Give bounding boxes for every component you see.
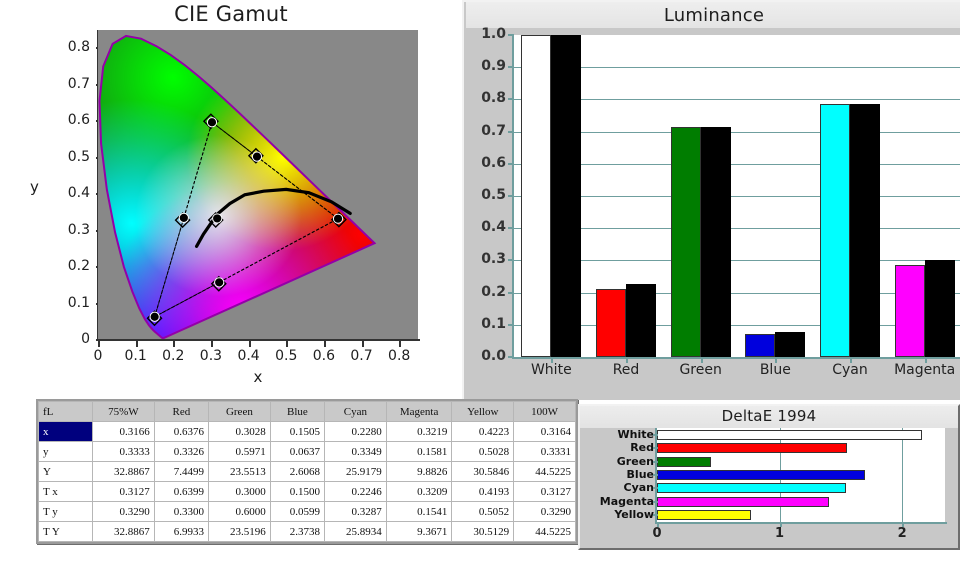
table-column-header[interactable]: 75%W <box>93 402 155 422</box>
deltae-category-label: Cyan <box>580 481 654 494</box>
table-cell[interactable]: 0.1581 <box>386 442 452 462</box>
table-row-header[interactable]: T x <box>39 482 93 502</box>
deltae-bar[interactable] <box>657 457 711 467</box>
cie-y-tick-label: 0.8 <box>56 39 90 55</box>
deltae-bar[interactable] <box>657 497 829 507</box>
table-cell[interactable]: 30.5129 <box>452 522 514 542</box>
table-row-header[interactable]: y <box>39 442 93 462</box>
deltae-x-tick-label: 1 <box>760 526 800 541</box>
luminance-bar-group[interactable] <box>663 35 738 357</box>
luminance-y-tick-label: 0.8 <box>464 90 506 106</box>
deltae-category-label: Magenta <box>580 495 654 508</box>
cie-x-tick-label: 0.8 <box>379 348 419 364</box>
luminance-bar-measured[interactable] <box>895 265 925 357</box>
luminance-y-tick-label: 0.3 <box>464 251 506 267</box>
table-cell[interactable]: 0.1505 <box>270 422 324 442</box>
cie-x-tick <box>211 340 213 347</box>
table-body: x0.31660.63760.30280.15050.22800.32190.4… <box>39 422 576 542</box>
table-cell[interactable]: 0.5028 <box>452 442 514 462</box>
cie-x-tick <box>286 340 288 347</box>
table-cell[interactable]: 0.3290 <box>514 502 576 522</box>
table-cell[interactable]: 0.6000 <box>209 502 271 522</box>
luminance-y-tick-label: 0.5 <box>464 187 506 203</box>
cie-x-tick <box>136 340 138 347</box>
deltae-category-tick <box>653 487 658 489</box>
cie-y-tick-label: 0.3 <box>56 222 90 238</box>
table-cell[interactable]: 9.3671 <box>386 522 452 542</box>
table-cell[interactable]: 0.5971 <box>209 442 271 462</box>
luminance-y-tick <box>508 98 514 100</box>
luminance-y-tick-label: 0.9 <box>464 58 506 74</box>
table-column-header[interactable]: Magenta <box>386 402 452 422</box>
measurement-table: fL75%WRedGreenBlueCyanMagentaYellow100W … <box>38 401 576 542</box>
luminance-x-axis-line <box>512 357 960 359</box>
luminance-bar-group[interactable] <box>813 35 888 357</box>
table-cell[interactable]: 0.0637 <box>270 442 324 462</box>
table-cell[interactable]: 0.3127 <box>93 482 155 502</box>
luminance-bar-measured[interactable] <box>745 334 775 357</box>
table-cell[interactable]: 2.6068 <box>270 462 324 482</box>
table-column-header[interactable]: 100W <box>514 402 576 422</box>
table-header-row: fL75%WRedGreenBlueCyanMagentaYellow100W <box>39 402 576 422</box>
luminance-bar-measured[interactable] <box>671 127 701 357</box>
table-cell[interactable]: 0.4223 <box>452 422 514 442</box>
deltae-x-tick-label: 2 <box>882 526 922 541</box>
luminance-y-tick <box>508 195 514 197</box>
luminance-bar-target[interactable] <box>626 284 656 357</box>
cie-y-tick-label: 0.6 <box>56 112 90 128</box>
table-cell[interactable]: 0.6399 <box>154 482 208 502</box>
deltae-category-tick <box>653 514 658 516</box>
luminance-bar-target[interactable] <box>775 332 805 357</box>
table-row-header[interactable]: Y <box>39 462 93 482</box>
cie-x-tick-label: 0.3 <box>191 348 231 364</box>
table-row-header[interactable]: T y <box>39 502 93 522</box>
cie-y-tick-label: 0.5 <box>56 149 90 165</box>
luminance-y-tick-label: 0.7 <box>464 123 506 139</box>
deltae-plot[interactable] <box>657 428 945 522</box>
luminance-bar-measured[interactable] <box>596 289 626 357</box>
table-cell[interactable]: 44.5225 <box>514 462 576 482</box>
cie-gamut-panel: CIE Gamut y 00.10.20.30.40.50.60.70.8 00… <box>0 0 462 400</box>
luminance-title: Luminance <box>466 5 960 26</box>
app-root: CIE Gamut y 00.10.20.30.40.50.60.70.8 00… <box>0 0 960 565</box>
luminance-category-label: Magenta <box>880 362 960 378</box>
luminance-y-tick <box>508 163 514 165</box>
table-cell[interactable]: 25.9179 <box>325 462 387 482</box>
deltae-category-tick <box>653 447 658 449</box>
table-column-header[interactable]: Yellow <box>452 402 514 422</box>
luminance-panel: Luminance 0.00.10.20.30.40.50.60.70.80.9… <box>462 0 960 400</box>
cie-x-axis-label: x <box>98 368 418 386</box>
deltae-bar[interactable] <box>657 483 846 493</box>
table-cell[interactable]: 0.1500 <box>270 482 324 502</box>
table-cell[interactable]: 0.3164 <box>514 422 576 442</box>
deltae-category-tick <box>653 501 658 503</box>
measurement-table-panel[interactable]: fL75%WRedGreenBlueCyanMagentaYellow100W … <box>36 399 578 544</box>
table-cell[interactable]: 0.4193 <box>452 482 514 502</box>
table-cell[interactable]: 0.3287 <box>325 502 387 522</box>
table-cell[interactable]: 0.5052 <box>452 502 514 522</box>
deltae-category-label: Green <box>580 455 654 468</box>
luminance-y-tick-label: 0.2 <box>464 284 506 300</box>
cie-y-tick-label: 0.7 <box>56 76 90 92</box>
luminance-y-tick-label: 0.4 <box>464 219 506 235</box>
table-cell[interactable]: 0.3349 <box>325 442 387 462</box>
luminance-y-tick <box>508 324 514 326</box>
deltae-category-label: White <box>580 428 654 441</box>
luminance-bar-group[interactable] <box>738 35 813 357</box>
luminance-plot[interactable] <box>514 35 960 357</box>
luminance-y-tick <box>508 66 514 68</box>
deltae-title: DeltaE 1994 <box>580 407 958 425</box>
luminance-y-tick <box>508 131 514 133</box>
deltae-bar[interactable] <box>657 470 865 480</box>
deltae-category-label: Blue <box>580 468 654 481</box>
table-cell[interactable]: 0.3290 <box>93 502 155 522</box>
table-row-header[interactable]: T Y <box>39 522 93 542</box>
table-header: fL75%WRedGreenBlueCyanMagentaYellow100W <box>39 402 576 422</box>
luminance-bar-target[interactable] <box>925 260 955 357</box>
luminance-bar-group[interactable] <box>514 35 589 357</box>
cie-horseshoe-svg <box>98 30 418 340</box>
cie-x-tick <box>98 340 100 347</box>
luminance-y-tick-label: 0.0 <box>464 348 506 364</box>
cie-y-tick-label: 0 <box>56 331 90 347</box>
table-cell[interactable]: 30.5846 <box>452 462 514 482</box>
table-cell[interactable]: 0.3166 <box>93 422 155 442</box>
deltae-bar[interactable] <box>657 430 922 440</box>
luminance-y-tick <box>508 292 514 294</box>
table-row[interactable]: T Y32.88676.993323.51962.373825.89349.36… <box>39 522 576 542</box>
cie-x-tick-label: 0 <box>78 348 118 364</box>
cie-y-tick-label: 0.4 <box>56 185 90 201</box>
luminance-bar-group[interactable] <box>589 35 664 357</box>
table-cell[interactable]: 0.3127 <box>514 482 576 502</box>
deltae-x-tick-label: 0 <box>637 526 677 541</box>
luminance-bar-measured[interactable] <box>521 35 551 357</box>
cie-y-tick-label: 0.2 <box>56 258 90 274</box>
table-cell[interactable]: 2.3738 <box>270 522 324 542</box>
table-cell[interactable]: 0.3000 <box>209 482 271 502</box>
luminance-bar-target[interactable] <box>701 127 731 357</box>
cie-x-tick <box>399 340 401 347</box>
deltae-gridline <box>902 428 903 522</box>
table-column-header[interactable]: Red <box>154 402 208 422</box>
table-cell[interactable]: 9.8826 <box>386 462 452 482</box>
table-cell[interactable]: 44.5225 <box>514 522 576 542</box>
table-cell[interactable]: 0.3333 <box>93 442 155 462</box>
table-cell[interactable]: 0.3209 <box>386 482 452 502</box>
table-row[interactable]: x0.31660.63760.30280.15050.22800.32190.4… <box>39 422 576 442</box>
table-row-header[interactable]: x <box>39 422 93 442</box>
deltae-category-tick <box>653 474 658 476</box>
table-cell[interactable]: 32.8867 <box>93 462 155 482</box>
deltae-bar[interactable] <box>657 443 847 453</box>
cie-x-tick <box>173 340 175 347</box>
luminance-y-tick-label: 1.0 <box>464 26 506 42</box>
table-cell[interactable]: 0.6376 <box>154 422 208 442</box>
cie-x-tick-label: 0.4 <box>229 348 269 364</box>
table-row[interactable]: T y0.32900.33000.60000.05990.32870.15410… <box>39 502 576 522</box>
table-column-header[interactable]: Cyan <box>325 402 387 422</box>
table-column-header[interactable]: Blue <box>270 402 324 422</box>
deltae-category-tick <box>653 461 658 463</box>
cie-x-tick-label: 0.2 <box>153 348 193 364</box>
luminance-titlebar: Luminance <box>466 2 960 28</box>
deltae-titlebar: DeltaE 1994 <box>580 406 958 428</box>
table-cell[interactable]: 23.5196 <box>209 522 271 542</box>
deltae-category-tick <box>653 434 658 436</box>
luminance-bar-target[interactable] <box>551 35 581 357</box>
table-cell[interactable]: 0.3326 <box>154 442 208 462</box>
luminance-y-tick <box>508 227 514 229</box>
table-cell[interactable]: 32.8867 <box>93 522 155 542</box>
deltae-panel: DeltaE 1994 012WhiteRedGreenBlueCyanMage… <box>578 404 960 550</box>
table-cell[interactable]: 0.3300 <box>154 502 208 522</box>
cie-x-tick-label: 0.1 <box>116 348 156 364</box>
cie-x-tick <box>249 340 251 347</box>
deltae-category-label: Red <box>580 441 654 454</box>
table-cell[interactable]: 7.4499 <box>154 462 208 482</box>
cie-x-tick-label: 0.7 <box>342 348 382 364</box>
table-corner-header[interactable]: fL <box>39 402 93 422</box>
table-cell[interactable]: 0.3219 <box>386 422 452 442</box>
table-row[interactable]: y0.33330.33260.59710.06370.33490.15810.5… <box>39 442 576 462</box>
cie-chromaticity-plot[interactable] <box>98 30 418 340</box>
cie-y-tick-label: 0.1 <box>56 295 90 311</box>
table-cell[interactable]: 0.2246 <box>325 482 387 502</box>
table-cell[interactable]: 0.3028 <box>209 422 271 442</box>
luminance-bar-group[interactable] <box>887 35 960 357</box>
cie-x-tick <box>324 340 326 347</box>
table-cell[interactable]: 6.9933 <box>154 522 208 542</box>
cie-y-axis-ticks: 00.10.20.30.40.50.60.70.8 <box>56 0 98 340</box>
cie-x-tick-label: 0.5 <box>266 348 306 364</box>
table-row[interactable]: Y32.88677.449923.55132.606825.91799.8826… <box>39 462 576 482</box>
cie-x-tick <box>362 340 364 347</box>
deltae-bar[interactable] <box>657 510 751 520</box>
luminance-bar-measured[interactable] <box>820 104 850 357</box>
luminance-y-tick-label: 0.1 <box>464 316 506 332</box>
luminance-y-tick <box>508 259 514 261</box>
luminance-y-tick-label: 0.6 <box>464 155 506 171</box>
cie-y-axis-label: y <box>30 178 39 196</box>
luminance-y-tick <box>508 356 514 358</box>
table-cell[interactable]: 0.1541 <box>386 502 452 522</box>
luminance-y-tick <box>508 34 514 36</box>
table-cell[interactable]: 0.3331 <box>514 442 576 462</box>
table-row[interactable]: T x0.31270.63990.30000.15000.22460.32090… <box>39 482 576 502</box>
table-column-header[interactable]: Green <box>209 402 271 422</box>
table-cell[interactable]: 25.8934 <box>325 522 387 542</box>
table-cell[interactable]: 0.2280 <box>325 422 387 442</box>
luminance-bar-target[interactable] <box>850 104 880 357</box>
deltae-category-label: Yellow <box>580 508 654 521</box>
table-cell[interactable]: 0.0599 <box>270 502 324 522</box>
table-cell[interactable]: 23.5513 <box>209 462 271 482</box>
cie-x-tick-label: 0.6 <box>304 348 344 364</box>
